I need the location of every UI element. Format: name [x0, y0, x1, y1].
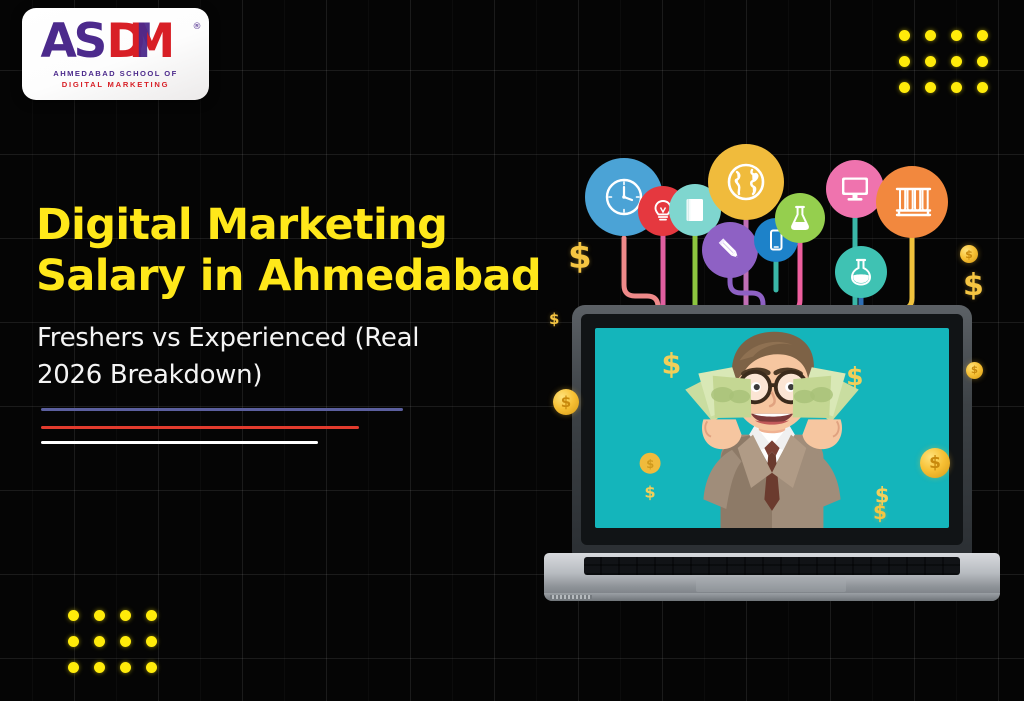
headline-line-1: Digital Marketing [36, 200, 556, 251]
dot [899, 56, 910, 67]
page-subtitle: Freshers vs Experienced (Real 2026 Break… [37, 320, 467, 394]
decorative-rule-white [41, 441, 318, 444]
dots-bottom-left [68, 610, 157, 673]
dots-top-right [899, 30, 988, 93]
bubble-globe[interactable] [708, 144, 784, 220]
dot [951, 82, 962, 93]
decorative-rule-red [41, 426, 359, 429]
monitor-icon [839, 174, 871, 204]
pencil-icon [715, 235, 745, 265]
dot [899, 82, 910, 93]
dot [925, 30, 936, 41]
dot [94, 636, 105, 647]
dot [120, 662, 131, 673]
registered-trademark-icon: ® [193, 22, 202, 32]
dot [120, 636, 131, 647]
dot [120, 610, 131, 621]
test-tubes-icon [891, 182, 933, 222]
bubble-round-flask[interactable] [835, 246, 887, 298]
dot [146, 662, 157, 673]
bubble-flask[interactable] [775, 193, 825, 243]
businessman-illustration: $ $ $ $ $ [595, 328, 949, 528]
dot [977, 30, 988, 41]
svg-text:$: $ [644, 483, 655, 502]
bubble-test-tubes[interactable] [876, 166, 948, 238]
dollar-sign-mid-right: $ [873, 500, 887, 524]
dot [925, 82, 936, 93]
coin-top-right: $ [960, 245, 978, 263]
round-flask-icon [847, 257, 875, 287]
laptop: $ $ $ $ $ [572, 305, 972, 600]
laptop-keyboard [584, 557, 960, 575]
dot [146, 636, 157, 647]
dot [68, 636, 79, 647]
hero-illustration: $ $ $ $ $ [520, 100, 1024, 640]
coin-bottom-right: $ [920, 448, 950, 478]
bubble-pencil[interactable] [702, 222, 758, 278]
flask-icon [787, 204, 813, 232]
dot [977, 56, 988, 67]
dot [94, 662, 105, 673]
logo-letter-a: A [41, 20, 75, 64]
decorative-rule-purple [41, 408, 403, 411]
dot [899, 30, 910, 41]
svg-text:$: $ [662, 347, 682, 381]
dot [146, 610, 157, 621]
bubble-monitor[interactable] [826, 160, 884, 218]
logo-tagline-line1: AHMEDABAD SCHOOL OF [53, 69, 177, 78]
coin-mid-right: $ [966, 362, 983, 379]
dollar-sign-small-left: $ [549, 310, 559, 328]
dot [94, 610, 105, 621]
dot [951, 56, 962, 67]
laptop-screen: $ $ $ $ $ [595, 328, 949, 528]
dot [68, 610, 79, 621]
laptop-bezel: $ $ $ $ $ [581, 314, 963, 545]
asdm-logo[interactable]: A S D M M ® AHMEDABAD SCHOOL OF DIGITAL … [22, 8, 209, 100]
book-icon [682, 196, 708, 224]
globe-icon [723, 159, 769, 205]
logo-tagline-line2: DIGITAL MARKETING [62, 80, 170, 89]
logo-letter-s: S [74, 20, 106, 64]
dot [68, 662, 79, 673]
laptop-lid: $ $ $ $ $ [572, 305, 972, 557]
laptop-base-lip [544, 593, 1000, 601]
headline-line-2: Salary in Ahmedabad [36, 251, 556, 302]
dot [977, 82, 988, 93]
logo-wordmark: A S D M M ® [41, 20, 191, 64]
svg-text:$: $ [646, 457, 654, 471]
laptop-trackpad [696, 577, 846, 592]
coin-left: $ [553, 389, 579, 415]
page-title: Digital Marketing Salary in Ahmedabad [36, 200, 556, 302]
dollar-sign-large-right: $ [963, 268, 984, 303]
dollar-sign-large-left: $ [568, 237, 592, 277]
dot [925, 56, 936, 67]
laptop-vent [550, 595, 592, 599]
laptop-base [544, 553, 1000, 601]
dot [951, 30, 962, 41]
